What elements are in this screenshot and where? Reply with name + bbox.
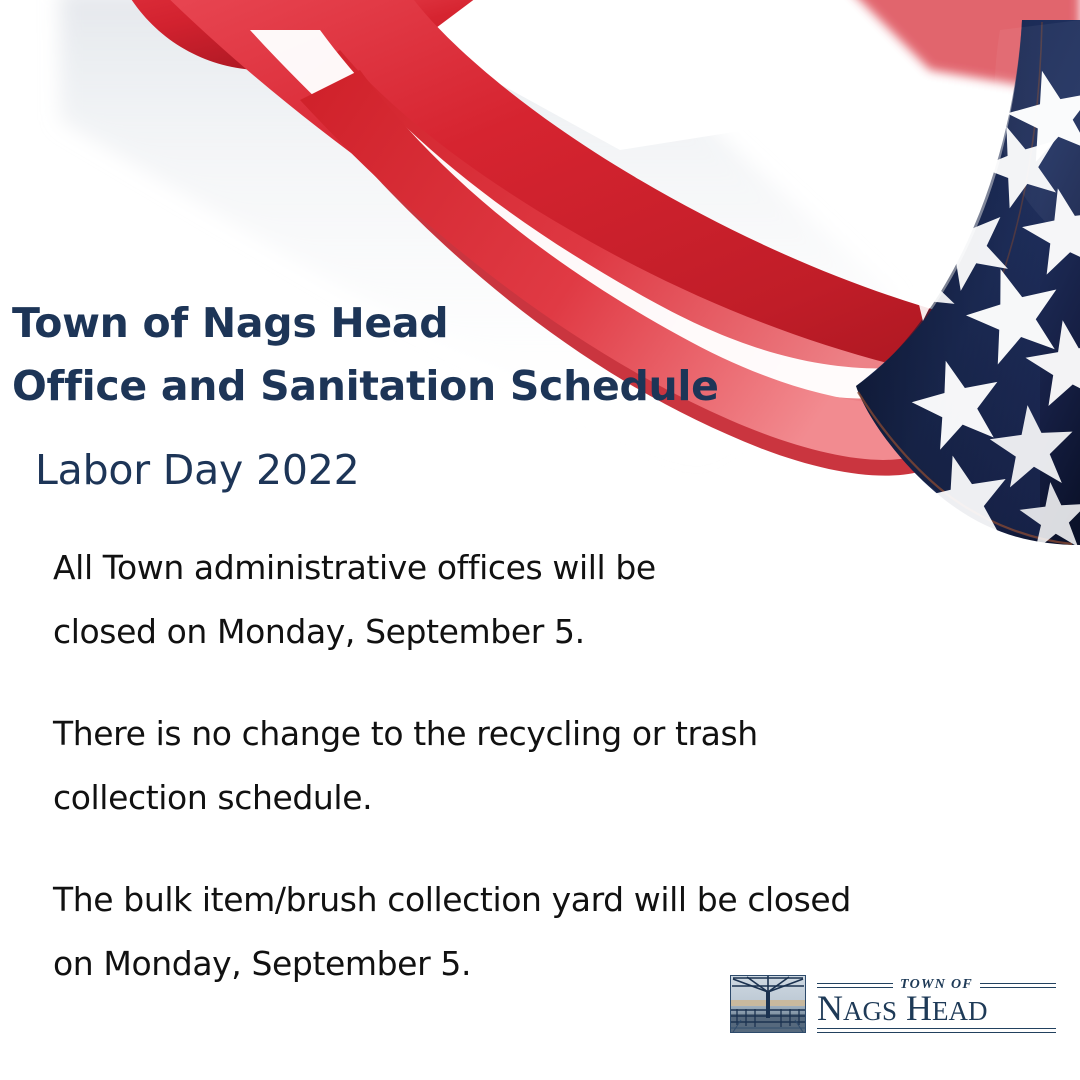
pier-gazebo-icon — [730, 975, 806, 1033]
paragraph-line: collection schedule. — [53, 766, 1038, 830]
announcement-body: All Town administrative offices will be … — [53, 536, 1038, 996]
title-line-1: Town of Nags Head — [12, 292, 832, 355]
logo-name-cap-h: H — [906, 988, 932, 1028]
paragraph-line: All Town administrative offices will be — [53, 536, 1038, 600]
poster-canvas: Town of Nags Head Office and Sanitation … — [0, 0, 1080, 1080]
paragraph-line: The bulk item/brush collection yard will… — [53, 868, 1038, 932]
logo-name-rest-ead: EAD — [932, 996, 988, 1026]
logo-rule-bottom — [817, 1028, 1056, 1033]
logo-rule-left — [817, 983, 893, 988]
paragraph-line: There is no change to the recycling or t… — [53, 702, 1038, 766]
pier-gazebo-svg — [731, 976, 805, 1032]
logo-rule-right — [980, 983, 1056, 988]
paragraph-line: closed on Monday, September 5. — [53, 600, 1038, 664]
town-of-nags-head-logo: TOWN OF NAGS HEAD — [730, 973, 1056, 1035]
page-title: Town of Nags Head Office and Sanitation … — [12, 292, 832, 418]
logo-name-rest-ags: AGS — [843, 996, 897, 1026]
paragraph-offices-closed: All Town administrative offices will be … — [53, 536, 1038, 664]
title-line-2: Office and Sanitation Schedule — [12, 355, 832, 418]
logo-wordmark: TOWN OF NAGS HEAD — [817, 975, 1056, 1033]
page-subtitle: Labor Day 2022 — [35, 442, 360, 498]
logo-name-cap-n: N — [817, 988, 843, 1028]
logo-name-text: NAGS HEAD — [817, 989, 988, 1030]
paragraph-collection-unchanged: There is no change to the recycling or t… — [53, 702, 1038, 830]
